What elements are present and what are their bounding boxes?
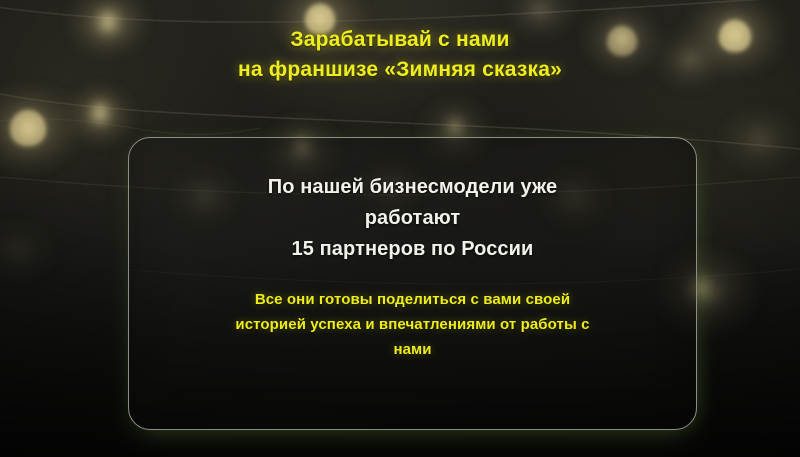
page-title: Зарабатывай с нами на франшизе «Зимняя с… [0,25,800,85]
card-subtext: Все они готовы поделиться с вами своей и… [235,287,589,362]
card-subtext-line-2: историей успеха и впечатлениями от работ… [235,312,589,337]
page-title-line-2: на франшизе «Зимняя сказка» [0,55,800,85]
info-card: По нашей бизнесмодели уже работают 15 па… [128,137,697,430]
page-title-line-1: Зарабатывай с нами [0,25,800,55]
card-subtext-line-1: Все они готовы поделиться с вами своей [235,287,589,312]
info-card-content: По нашей бизнесмодели уже работают 15 па… [129,138,696,429]
card-headline: По нашей бизнесмодели уже работают 15 па… [268,172,557,265]
card-subtext-line-3: нами [235,337,589,362]
card-headline-line-3: 15 партнеров по России [268,234,557,265]
card-headline-line-2: работают [268,203,557,234]
card-headline-line-1: По нашей бизнесмодели уже [268,172,557,203]
